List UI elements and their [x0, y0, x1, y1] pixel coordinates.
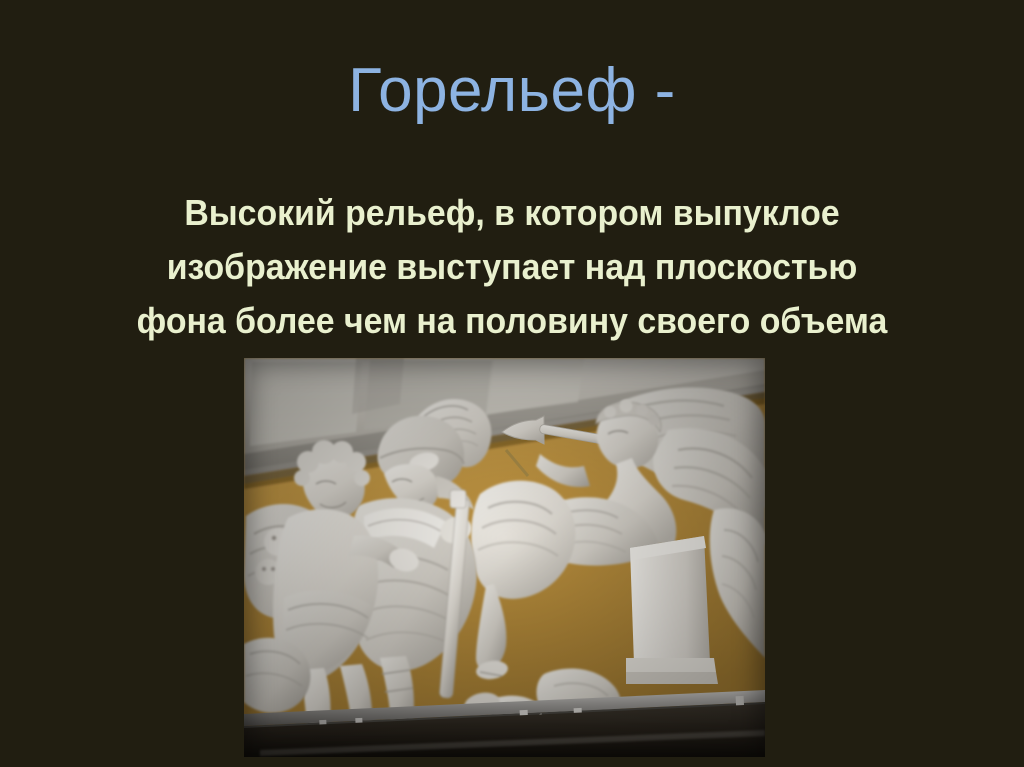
body-line-3: фона более чем на половину своего объема — [89, 294, 935, 348]
page-title: Горельеф - — [0, 58, 1024, 123]
high-relief-illustration — [244, 358, 765, 757]
high-relief-photo — [244, 358, 765, 757]
body-line-2: изображение выступает над плоскостью — [89, 240, 935, 294]
body-line-1: Высокий рельеф, в котором выпуклое — [89, 186, 935, 240]
body-paragraph: Высокий рельеф, в котором выпуклое изобр… — [89, 186, 935, 348]
slide-canvas: Горельеф - Высокий рельеф, в котором вып… — [0, 0, 1024, 767]
